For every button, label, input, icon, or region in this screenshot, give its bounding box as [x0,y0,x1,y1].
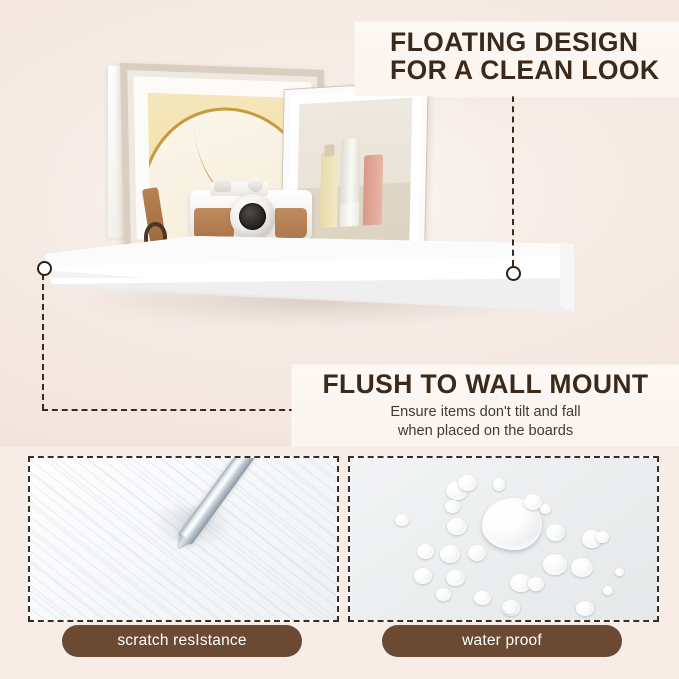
connector-flush-mount-line-vertical [42,274,44,410]
callout-title-line-1: FLOATING DESIGN [390,28,679,56]
callout-card-floating-design: FLOATING DESIGN FOR A CLEAN LOOK [355,22,679,96]
camera-dial-right [248,177,263,192]
water-droplet [445,500,460,513]
callout-title-floating-design: FLOATING DESIGN FOR A CLEAN LOOK [355,22,679,84]
connector-floating-design-line [512,96,514,266]
water-droplet [603,586,613,595]
callout-subtitle-flush-mount: Ensure items don't tilt and fall when pl… [292,398,679,440]
water-droplet [468,545,486,561]
connector-flush-mount-line-horizontal [42,409,295,411]
water-droplet [540,504,551,514]
badge-scratch-label: scratch resIstance [117,632,246,650]
water-droplet [615,568,624,576]
feature-photo-scratch [28,456,339,622]
water-droplet [447,518,467,535]
water-droplet [546,524,565,541]
water-droplet [576,601,594,616]
badge-water-label: water proof [462,632,542,650]
feature-photo-water [348,456,659,622]
connector-floating-design-marker [506,266,521,281]
water-droplet [493,478,505,491]
scratch-smudge [153,507,270,585]
feature-section: scratch resIstance water proof [0,447,679,679]
badge-water-proof[interactable]: water proof [382,625,622,657]
water-droplet [458,475,477,491]
water-droplet [543,554,567,575]
water-droplet [571,558,593,577]
product-infographic: FLOATING DESIGN FOR A CLEAN LOOK FLUSH T… [0,0,679,679]
water-droplet [417,544,434,559]
camera-dial-left [214,178,231,192]
callout-title-line-2: FOR A CLEAN LOOK [390,56,679,84]
water-droplet [528,577,544,591]
water-droplet [395,514,409,526]
water-droplet [474,591,491,605]
water-droplet [440,545,460,563]
water-droplet [446,570,465,586]
water-droplet [414,568,432,584]
bottle-neck [324,144,335,157]
water-droplet [504,603,516,614]
water-droplet [596,531,609,543]
callout-card-flush-mount: FLUSH TO WALL MOUNT Ensure items don't t… [292,365,679,446]
callout-subtitle-line-2: when placed on the boards [292,422,679,441]
connector-flush-mount-marker [37,261,52,276]
water-droplet [436,588,451,601]
callout-title-flush-mount: FLUSH TO WALL MOUNT [292,365,679,398]
callout-subtitle-line-1: Ensure items don't tilt and fall [292,403,679,422]
badge-scratch-resistance[interactable]: scratch resIstance [62,625,302,657]
